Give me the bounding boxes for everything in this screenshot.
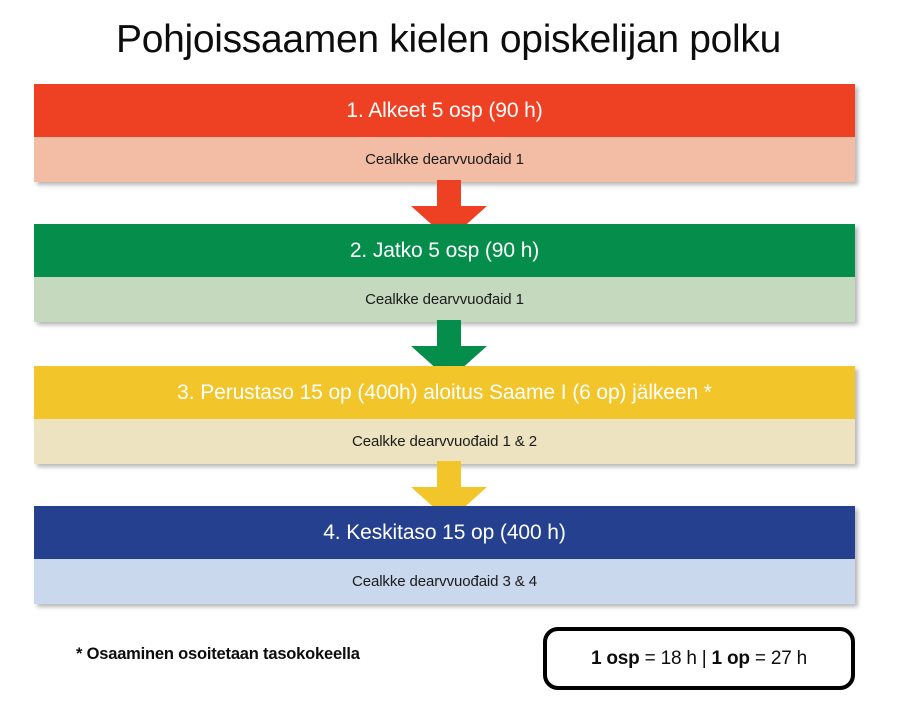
stage-subtitle-2: Cealkke dearvvuođaid 1 xyxy=(34,277,855,322)
stage-heading-3: 3. Perustaso 15 op (400h) aloitus Saame … xyxy=(34,366,855,419)
credit-legend-text: 1 osp = 18 h|1 op = 27 h xyxy=(591,648,807,670)
stage-heading-4: 4. Keskitaso 15 op (400 h) xyxy=(34,506,855,559)
stage-subtitle-3: Cealkke dearvvuođaid 1 & 2 xyxy=(34,419,855,464)
osp-label: 1 osp xyxy=(591,648,640,669)
slide-canvas: Pohjoissaamen kielen opiskelijan polku 1… xyxy=(0,0,897,720)
stage-subtitle-1: Cealkke dearvvuođaid 1 xyxy=(34,137,855,182)
stage-block-1: 1. Alkeet 5 osp (90 h) Cealkke dearvvuođ… xyxy=(34,84,855,182)
stage-heading-1: 1. Alkeet 5 osp (90 h) xyxy=(34,84,855,137)
page-title: Pohjoissaamen kielen opiskelijan polku xyxy=(0,18,897,62)
footnote-text: * Osaaminen osoitetaan tasokokeella xyxy=(76,645,360,664)
legend-separator: | xyxy=(697,648,712,669)
op-label: 1 op xyxy=(712,648,750,669)
stage-block-3: 3. Perustaso 15 op (400h) aloitus Saame … xyxy=(34,366,855,464)
osp-value: = 18 h xyxy=(640,648,697,669)
stage-block-4: 4. Keskitaso 15 op (400 h) Cealkke dearv… xyxy=(34,506,855,604)
credit-legend-box: 1 osp = 18 h|1 op = 27 h xyxy=(543,627,855,690)
stage-heading-2: 2. Jatko 5 osp (90 h) xyxy=(34,224,855,277)
stage-subtitle-4: Cealkke dearvvuođaid 3 & 4 xyxy=(34,559,855,604)
op-value: = 27 h xyxy=(750,648,807,669)
stage-block-2: 2. Jatko 5 osp (90 h) Cealkke dearvvuođa… xyxy=(34,224,855,322)
